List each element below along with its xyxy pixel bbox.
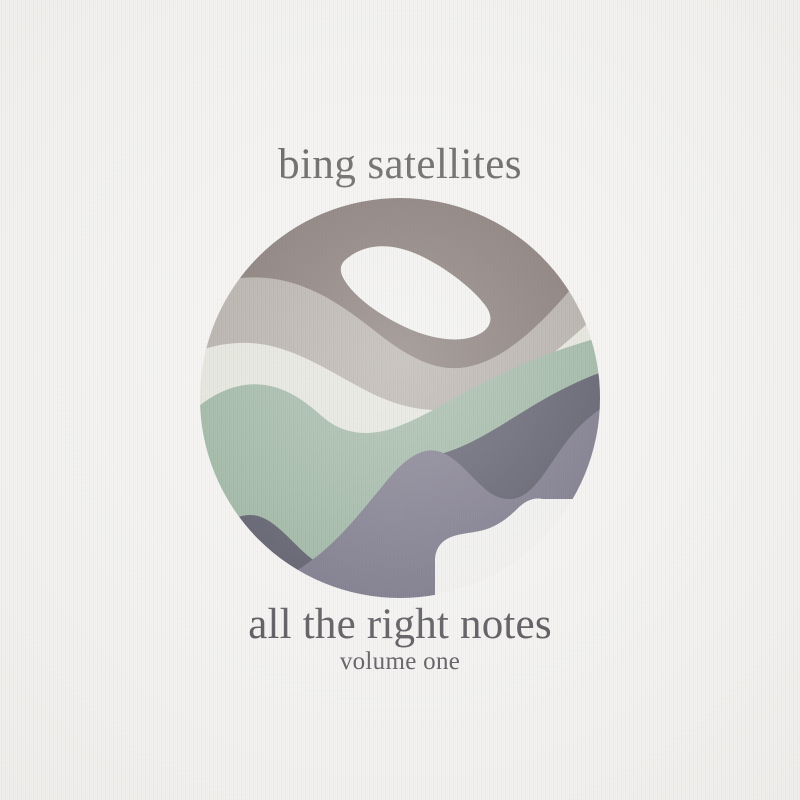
album-artwork xyxy=(199,197,601,599)
album-title: all the right notes xyxy=(0,601,800,648)
album-cover: bing satellites all the right notes volu… xyxy=(0,0,800,800)
album-volume-label: volume one xyxy=(0,648,800,676)
artist-name: bing satellites xyxy=(0,141,800,188)
artwork-paper-lines xyxy=(199,197,601,599)
artwork-svg xyxy=(199,197,601,599)
